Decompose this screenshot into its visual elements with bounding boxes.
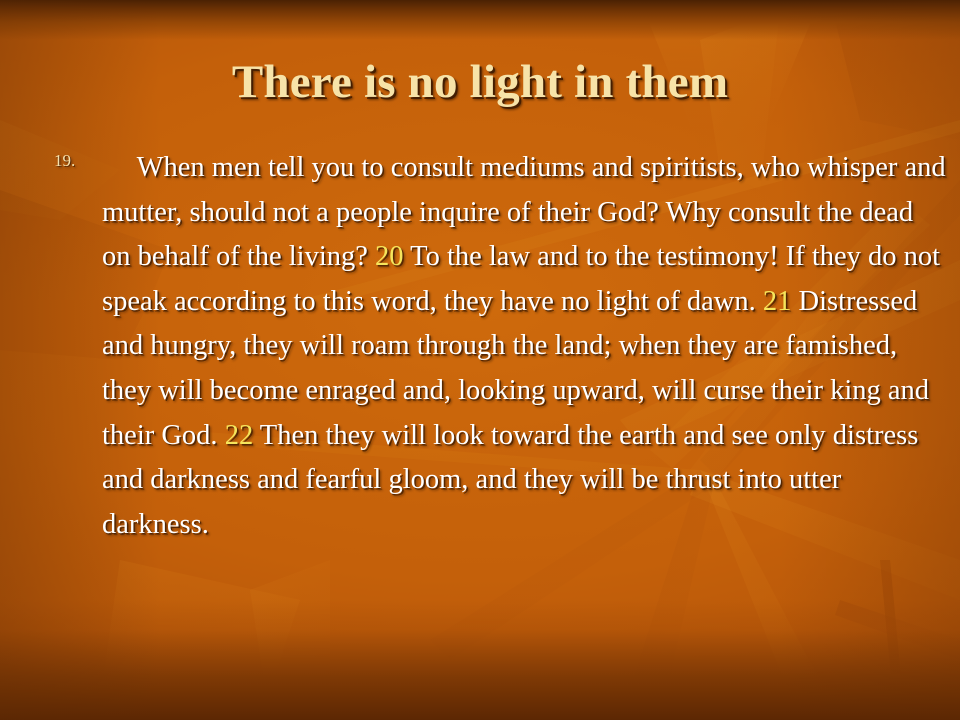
slide-body: 19. When men tell you to consult mediums… — [46, 146, 948, 547]
slide-content: There is no light in them 19. When men t… — [0, 0, 960, 720]
verse-number: 21 — [763, 286, 792, 317]
scripture-text: When men tell you to consult mediums and… — [102, 152, 946, 540]
scripture-paragraph: 19. When men tell you to consult mediums… — [46, 146, 948, 547]
slide-title: There is no light in them — [0, 58, 960, 107]
presentation-slide: There is no light in them 19. When men t… — [0, 0, 960, 720]
list-marker: 19. — [54, 152, 75, 169]
verse-number: 22 — [225, 420, 254, 451]
verse-number: 20 — [375, 241, 404, 272]
